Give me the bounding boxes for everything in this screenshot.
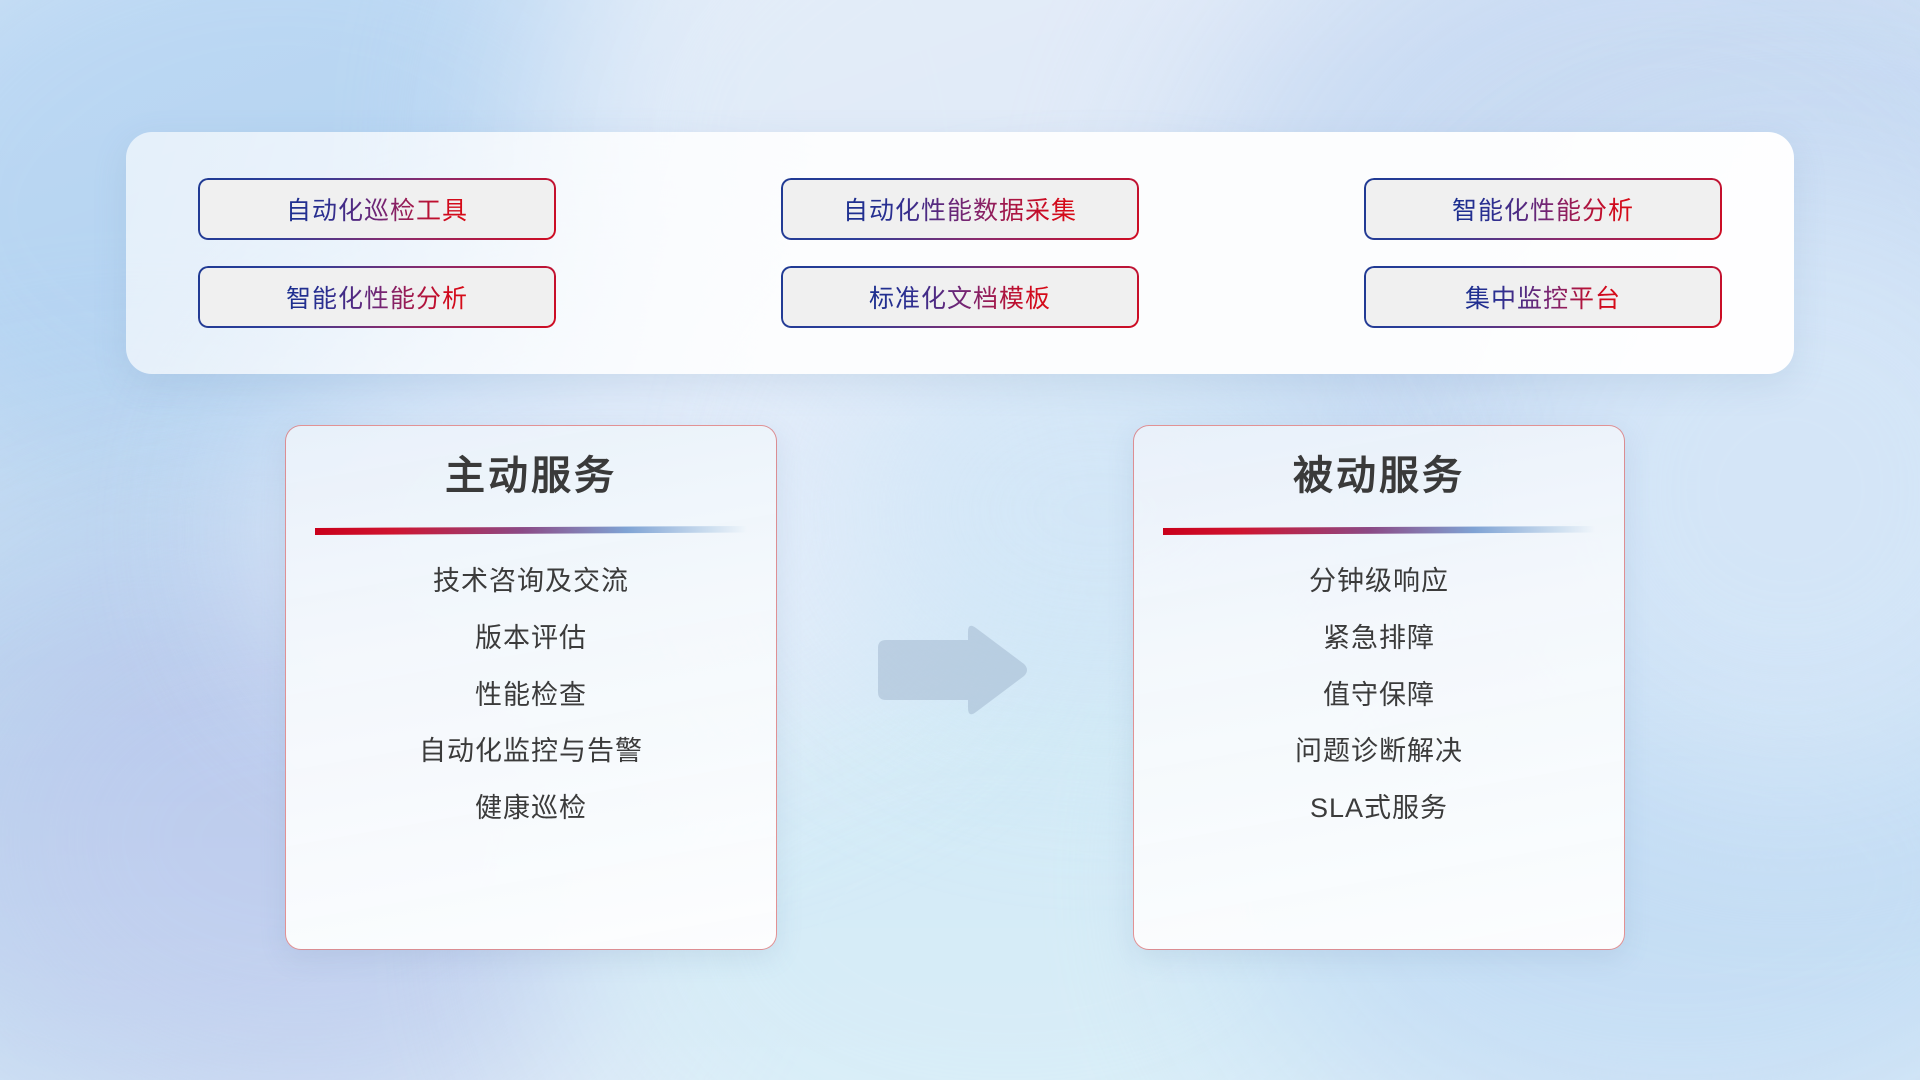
list-item[interactable]: SLA式服务 xyxy=(1134,792,1624,826)
capabilities-panel: 自动化巡检工具 自动化性能数据采集 智能化性能分析 智能化性能分析 标准化文档模… xyxy=(126,132,1794,374)
list-item[interactable]: 分钟级响应 xyxy=(1134,565,1624,599)
arrow-right-icon xyxy=(872,620,1032,720)
capability-pill-label: 自动化性能数据采集 xyxy=(843,191,1077,227)
list-item[interactable]: 性能检查 xyxy=(286,679,776,713)
capability-pill-intelligent-performance-analysis-bottom[interactable]: 智能化性能分析 xyxy=(198,266,556,328)
service-card-passive[interactable]: 被动服务 分钟级响应 紧急排障 值守保障 问题诊断解决 SLA式服务 xyxy=(1133,425,1625,950)
card-title: 被动服务 xyxy=(1134,452,1624,500)
capabilities-row-2: 智能化性能分析 标准化文档模板 集中监控平台 xyxy=(198,266,1722,328)
capability-pill-intelligent-performance-analysis-top[interactable]: 智能化性能分析 xyxy=(1364,178,1722,240)
card-divider xyxy=(315,526,747,535)
capability-pill-automation-performance-data-collection[interactable]: 自动化性能数据采集 xyxy=(781,178,1139,240)
capabilities-row-1: 自动化巡检工具 自动化性能数据采集 智能化性能分析 xyxy=(198,178,1722,240)
capability-pill-standard-document-template[interactable]: 标准化文档模板 xyxy=(781,266,1139,328)
capability-pill-automation-inspection-tool[interactable]: 自动化巡检工具 xyxy=(198,178,556,240)
list-item[interactable]: 自动化监控与告警 xyxy=(286,735,776,769)
capability-pill-label: 自动化巡检工具 xyxy=(286,191,468,227)
card-title: 主动服务 xyxy=(286,452,776,500)
capability-pill-label: 智能化性能分析 xyxy=(1452,191,1634,227)
capability-pill-centralized-monitoring-platform[interactable]: 集中监控平台 xyxy=(1364,266,1722,328)
list-item[interactable]: 紧急排障 xyxy=(1134,622,1624,656)
list-item[interactable]: 技术咨询及交流 xyxy=(286,565,776,599)
capability-pill-label: 集中监控平台 xyxy=(1465,279,1621,315)
service-item-list: 技术咨询及交流 版本评估 性能检查 自动化监控与告警 健康巡检 xyxy=(286,565,776,826)
service-card-active[interactable]: 主动服务 技术咨询及交流 版本评估 性能检查 自动化监控与告警 健康巡检 xyxy=(285,425,777,950)
list-item[interactable]: 值守保障 xyxy=(1134,679,1624,713)
list-item[interactable]: 健康巡检 xyxy=(286,792,776,826)
capability-pill-label: 智能化性能分析 xyxy=(286,279,468,315)
card-divider xyxy=(1163,526,1595,535)
service-item-list: 分钟级响应 紧急排障 值守保障 问题诊断解决 SLA式服务 xyxy=(1134,565,1624,826)
capability-pill-label: 标准化文档模板 xyxy=(869,279,1051,315)
list-item[interactable]: 版本评估 xyxy=(286,622,776,656)
list-item[interactable]: 问题诊断解决 xyxy=(1134,735,1624,769)
